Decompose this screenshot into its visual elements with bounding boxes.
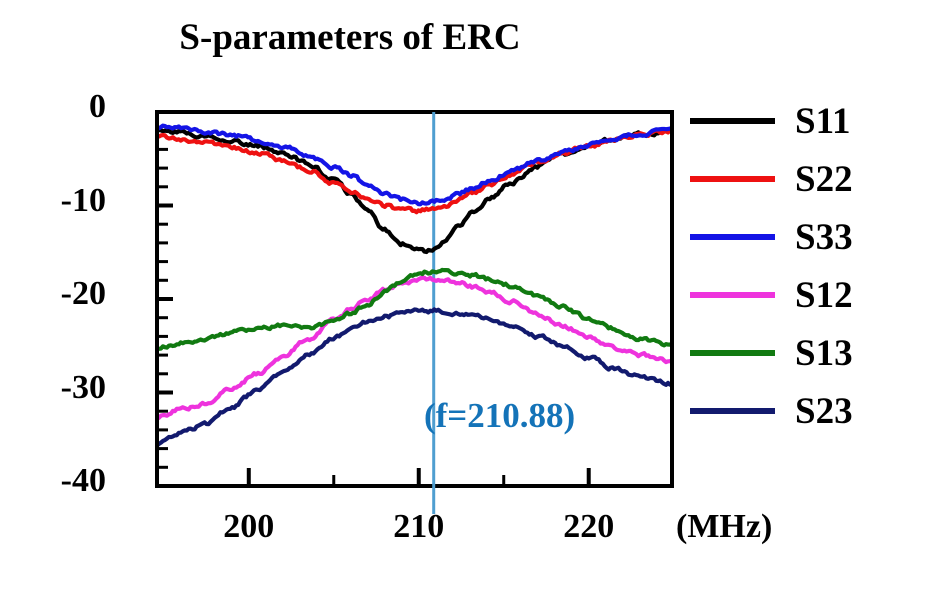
legend-color-swatch	[690, 350, 775, 356]
chart-figure: S-parameters of ERC (MHz) (f=210.88) S11…	[0, 0, 945, 591]
x-axis-unit-label: (MHz)	[676, 508, 772, 546]
legend-item-s23[interactable]: S23	[690, 382, 940, 440]
y-axis-tick-label: -20	[6, 275, 106, 313]
y-axis-tick-label: -40	[6, 462, 106, 500]
chart-legend: S11S22S33S12S13S23	[690, 92, 940, 440]
y-axis-tick-label: -10	[6, 182, 106, 220]
legend-color-swatch	[690, 118, 775, 124]
legend-color-swatch	[690, 234, 775, 240]
cursor-frequency-annotation: (f=210.88)	[424, 396, 575, 436]
legend-color-swatch	[690, 292, 775, 298]
legend-item-s22[interactable]: S22	[690, 150, 940, 208]
legend-item-label: S12	[795, 277, 853, 314]
plot-frame	[157, 112, 672, 486]
legend-item-label: S23	[795, 393, 853, 430]
legend-item-s13[interactable]: S13	[690, 324, 940, 382]
x-axis-tick-label: 220	[529, 508, 649, 546]
legend-item-s12[interactable]: S12	[690, 266, 940, 324]
legend-item-s33[interactable]: S33	[690, 208, 940, 266]
y-axis-tick-label: -30	[6, 369, 106, 407]
legend-item-label: S33	[795, 219, 853, 256]
legend-color-swatch	[690, 408, 775, 414]
legend-item-label: S13	[795, 335, 853, 372]
legend-item-label: S11	[795, 103, 851, 140]
x-axis-tick-label: 200	[189, 508, 309, 546]
y-axis-tick-label: 0	[6, 88, 106, 126]
legend-item-s11[interactable]: S11	[690, 92, 940, 150]
legend-item-label: S22	[795, 161, 853, 198]
legend-color-swatch	[690, 176, 775, 182]
x-axis-tick-label: 210	[359, 508, 479, 546]
